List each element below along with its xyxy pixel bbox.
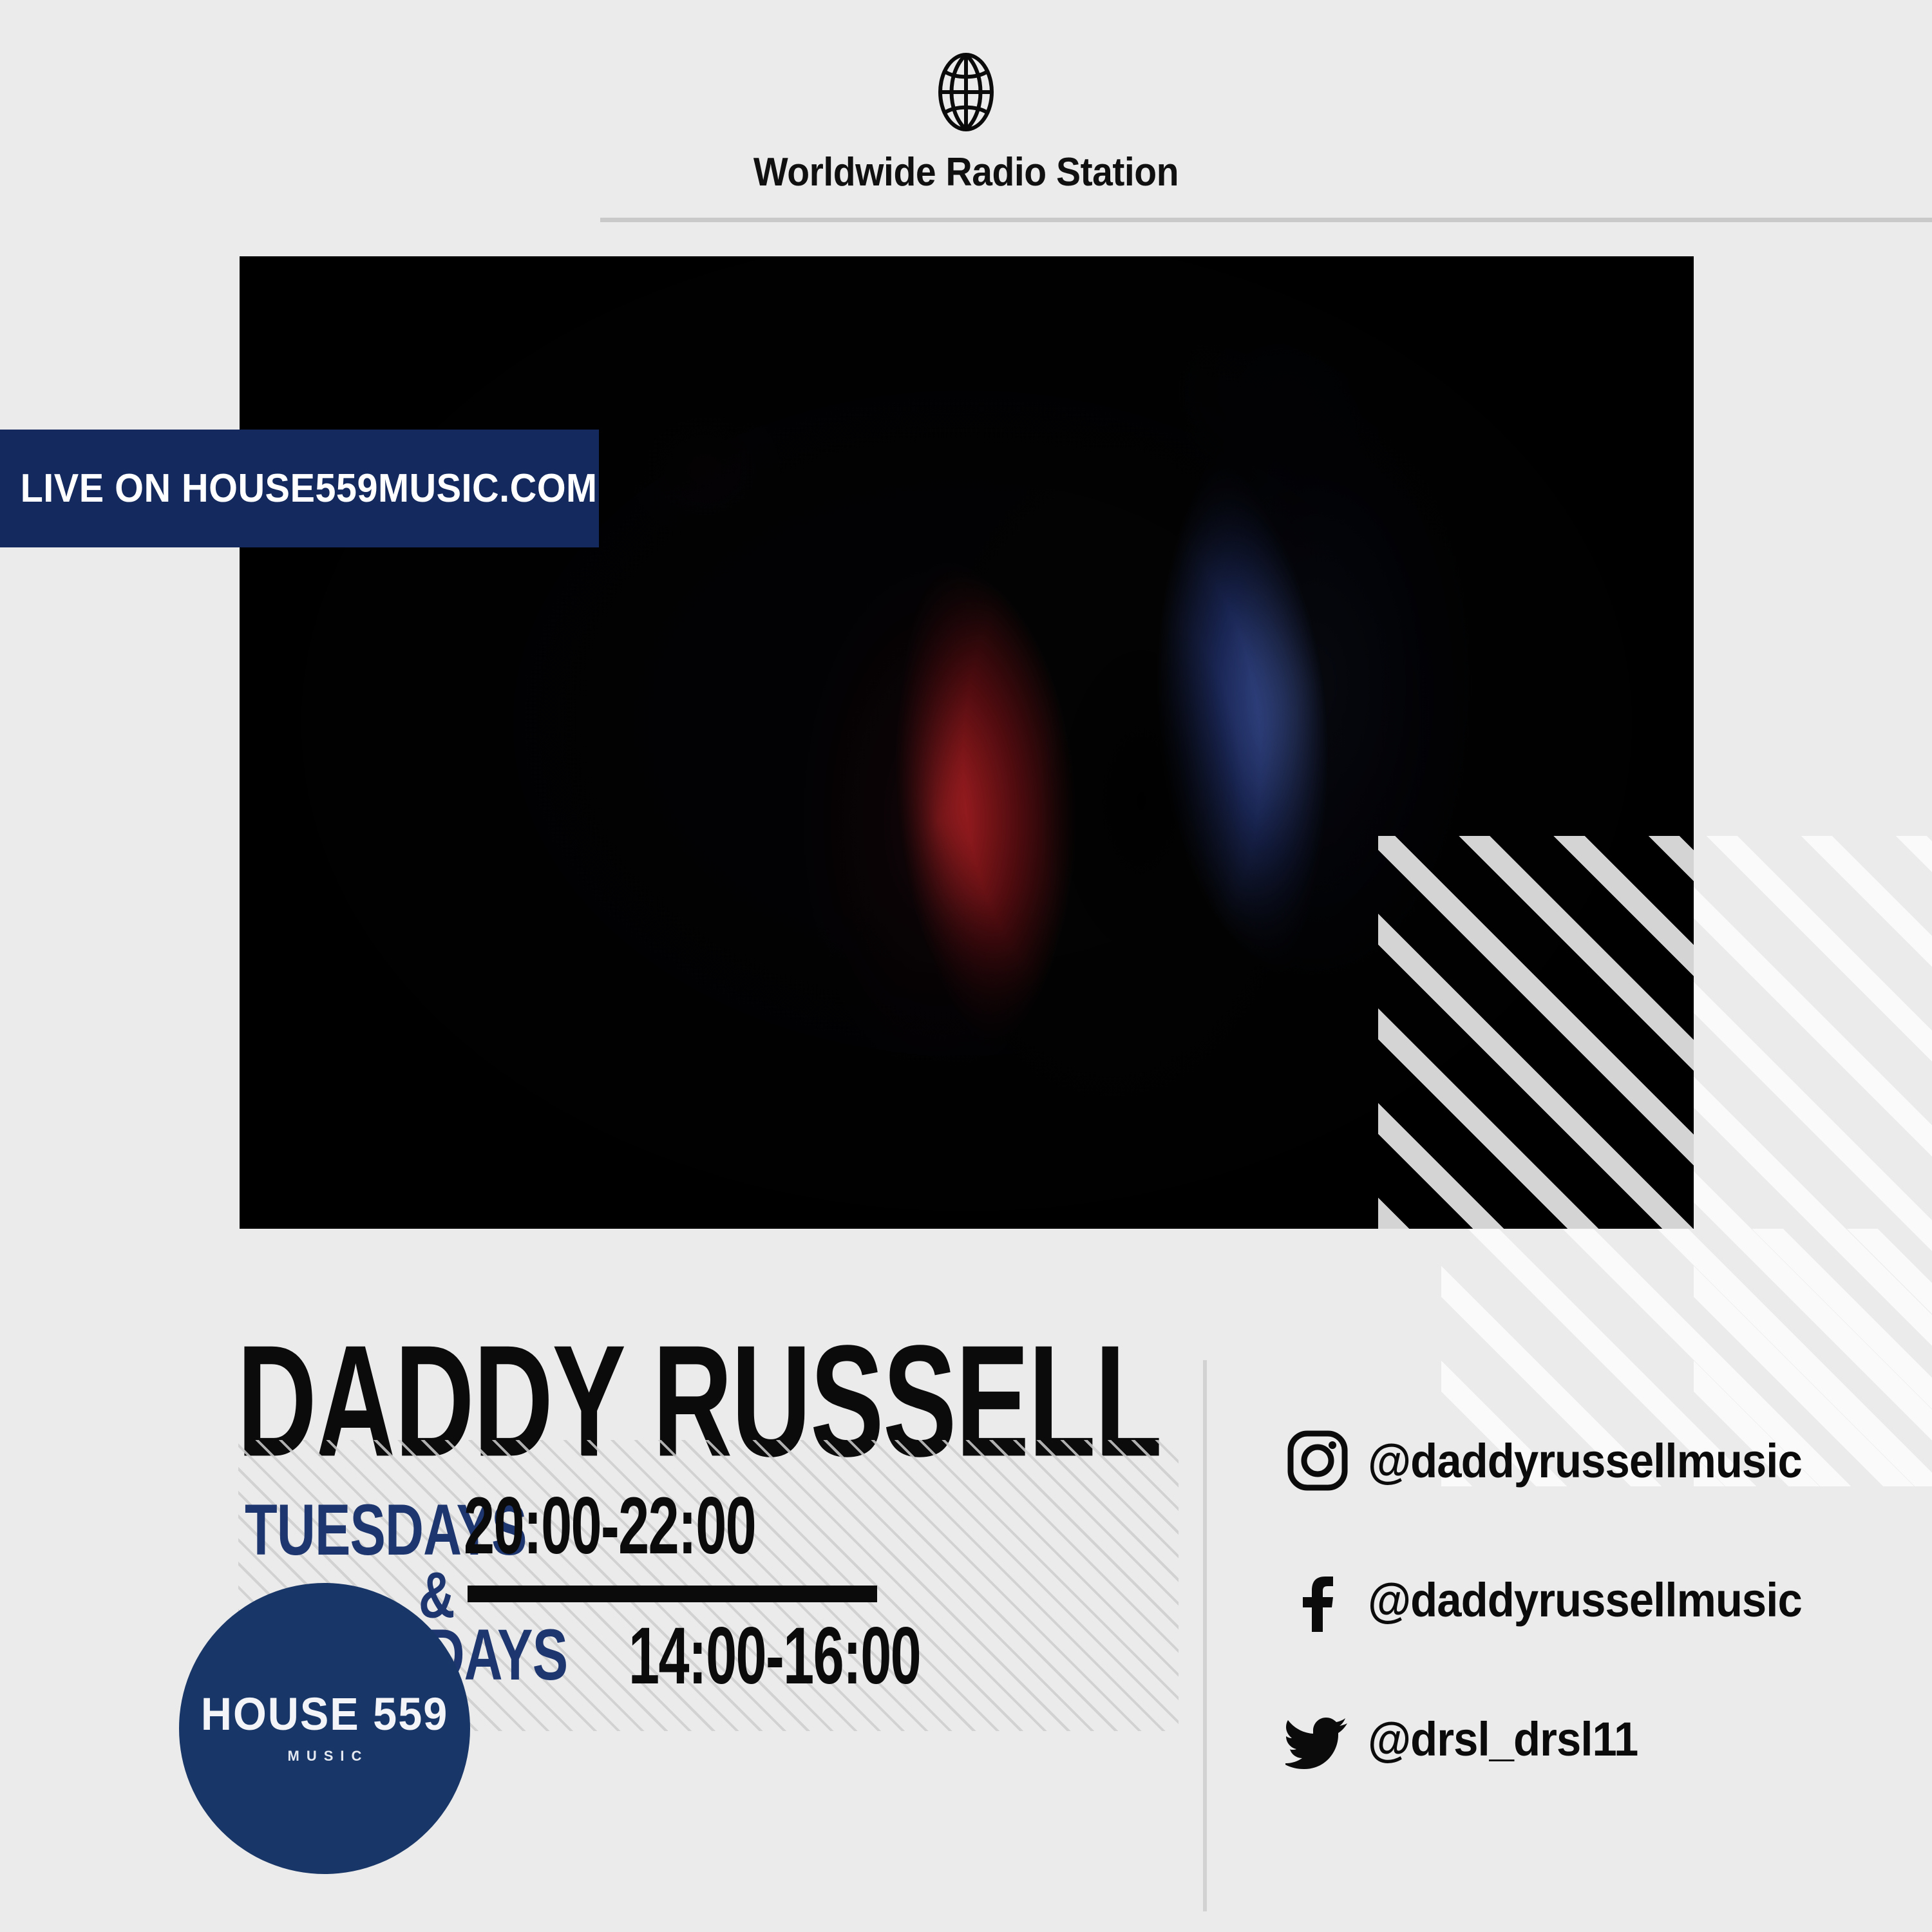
- social-row-facebook[interactable]: @daddyrussellmusic: [1282, 1567, 1932, 1632]
- facebook-icon: [1282, 1567, 1354, 1632]
- header: Worldwide Radio Station: [0, 0, 1932, 219]
- schedule-time-saturdays: 14:00-16:00: [629, 1609, 920, 1702]
- diagonal-stripes-overlay: [1378, 836, 1694, 1229]
- twitter-icon: [1282, 1707, 1354, 1771]
- house-559-logo[interactable]: HOUSE 559 MUSIC: [179, 1583, 470, 1874]
- facebook-handle: @daddyrussellmusic: [1368, 1573, 1802, 1627]
- live-banner[interactable]: LIVE ON HOUSE559MUSIC.COM: [0, 430, 599, 547]
- twitter-handle: @drsl_drsl11: [1368, 1712, 1638, 1766]
- social-row-twitter[interactable]: @drsl_drsl11: [1282, 1707, 1932, 1771]
- artist-photo: [240, 256, 1694, 1229]
- globe-icon: [934, 50, 998, 134]
- schedule-time-tuesdays: 20:00-22:00: [464, 1479, 755, 1572]
- header-divider: [600, 218, 1932, 222]
- house-559-logo-subtitle: MUSIC: [288, 1748, 369, 1765]
- schedule-divider-bar: [468, 1586, 877, 1602]
- live-banner-text: LIVE ON HOUSE559MUSIC.COM: [0, 466, 598, 511]
- social-list: @daddyrussellmusic @daddyrussellmusic @d…: [1282, 1428, 1932, 1846]
- section-divider: [1203, 1360, 1207, 1911]
- instagram-handle: @daddyrussellmusic: [1368, 1434, 1802, 1488]
- social-row-instagram[interactable]: @daddyrussellmusic: [1282, 1428, 1932, 1493]
- station-name: Worldwide Radio Station: [77, 149, 1855, 195]
- house-559-logo-name: HOUSE 559: [201, 1691, 448, 1737]
- instagram-icon: [1282, 1428, 1354, 1493]
